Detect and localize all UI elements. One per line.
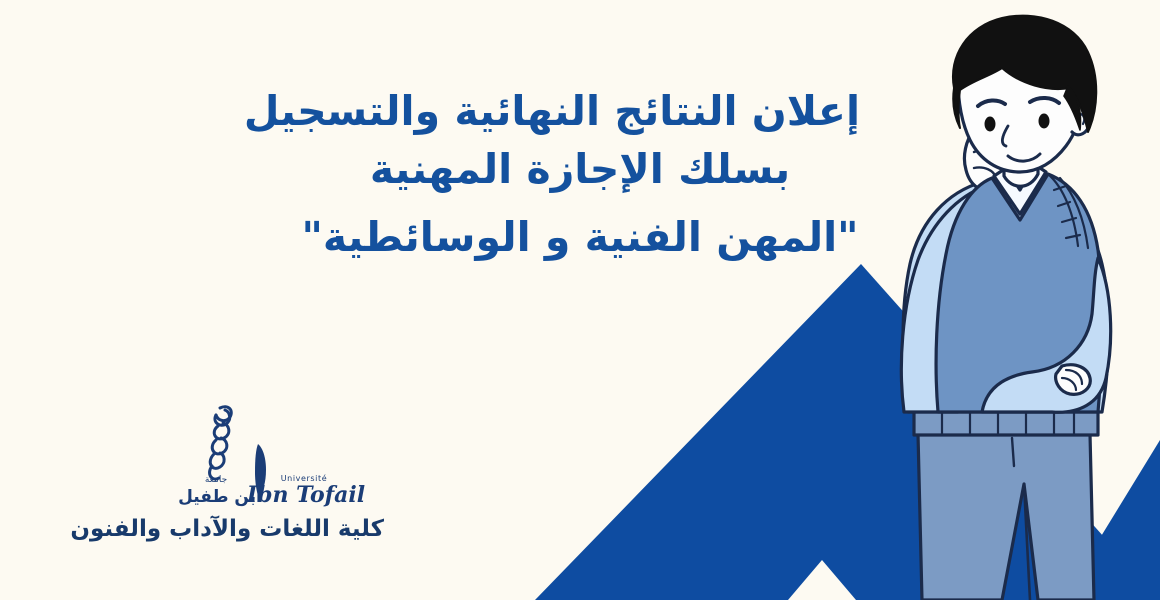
shirt-cuff-upper [972, 182, 1014, 218]
head [958, 20, 1084, 172]
blue-mountain-triangle [535, 264, 1160, 600]
university-logo: جامعة ابن طفيل Université Ibn Tofail [92, 402, 384, 510]
hair [953, 16, 1096, 132]
sweater-vest [936, 174, 1102, 412]
logo-block: جامعة ابن طفيل Université Ibn Tofail كلي… [92, 402, 384, 544]
trouser-leg-split [1024, 484, 1030, 600]
lower-hand-lines [1062, 370, 1082, 390]
eye-left [985, 117, 996, 132]
headline-line-3: "المهن الفنية و الوسائطية" [300, 208, 860, 266]
faculty-name: كلية اللغات والآداب والفنون [92, 516, 384, 544]
eyebrow-right [1030, 98, 1059, 103]
logo-calligraphy-squiggle [210, 407, 232, 479]
thinking-student-illustration [862, 14, 1160, 600]
blue-corner-triangle [1062, 440, 1160, 600]
shirt-lower-arm [982, 258, 1111, 412]
shirt-collar [994, 164, 1046, 214]
ear-inner [1078, 114, 1084, 124]
neck [1004, 130, 1038, 186]
ibn-tofail-logo-mark: جامعة ابن طفيل Université Ibn Tofail [92, 402, 384, 510]
hand-on-chin [964, 124, 1018, 191]
vest-waistband-ribs [942, 410, 1074, 435]
shirt-raised-arm [901, 186, 1012, 412]
announcement-banner: إعلان النتائج النهائية والتسجيل بسلك الإ… [0, 0, 1160, 600]
mouth [1008, 154, 1040, 161]
hair-sideburn [1064, 86, 1081, 130]
vest-shoulder-ribbing [1048, 174, 1088, 248]
ear [1072, 105, 1090, 135]
headline-line-2: بسلك الإجازة المهنية [300, 140, 860, 198]
shirt-body [903, 182, 1109, 412]
logo-latin-name: Ibn Tofail [246, 482, 365, 508]
eyebrow-left [978, 100, 1005, 106]
headline: إعلان النتائج النهائية والتسجيل بسلك الإ… [300, 82, 860, 267]
vest-waistband [914, 410, 1098, 435]
lower-hand [1056, 365, 1091, 395]
trousers [918, 434, 1094, 600]
finger-lines [974, 134, 1002, 178]
logo-arabic-university: جامعة [205, 475, 227, 485]
eye-right [1039, 114, 1050, 129]
nose [1002, 126, 1008, 146]
cream-foot-notch [788, 560, 856, 600]
trouser-fly-seam [1012, 438, 1014, 466]
headline-line-1: إعلان النتائج النهائية والتسجيل [300, 82, 860, 140]
